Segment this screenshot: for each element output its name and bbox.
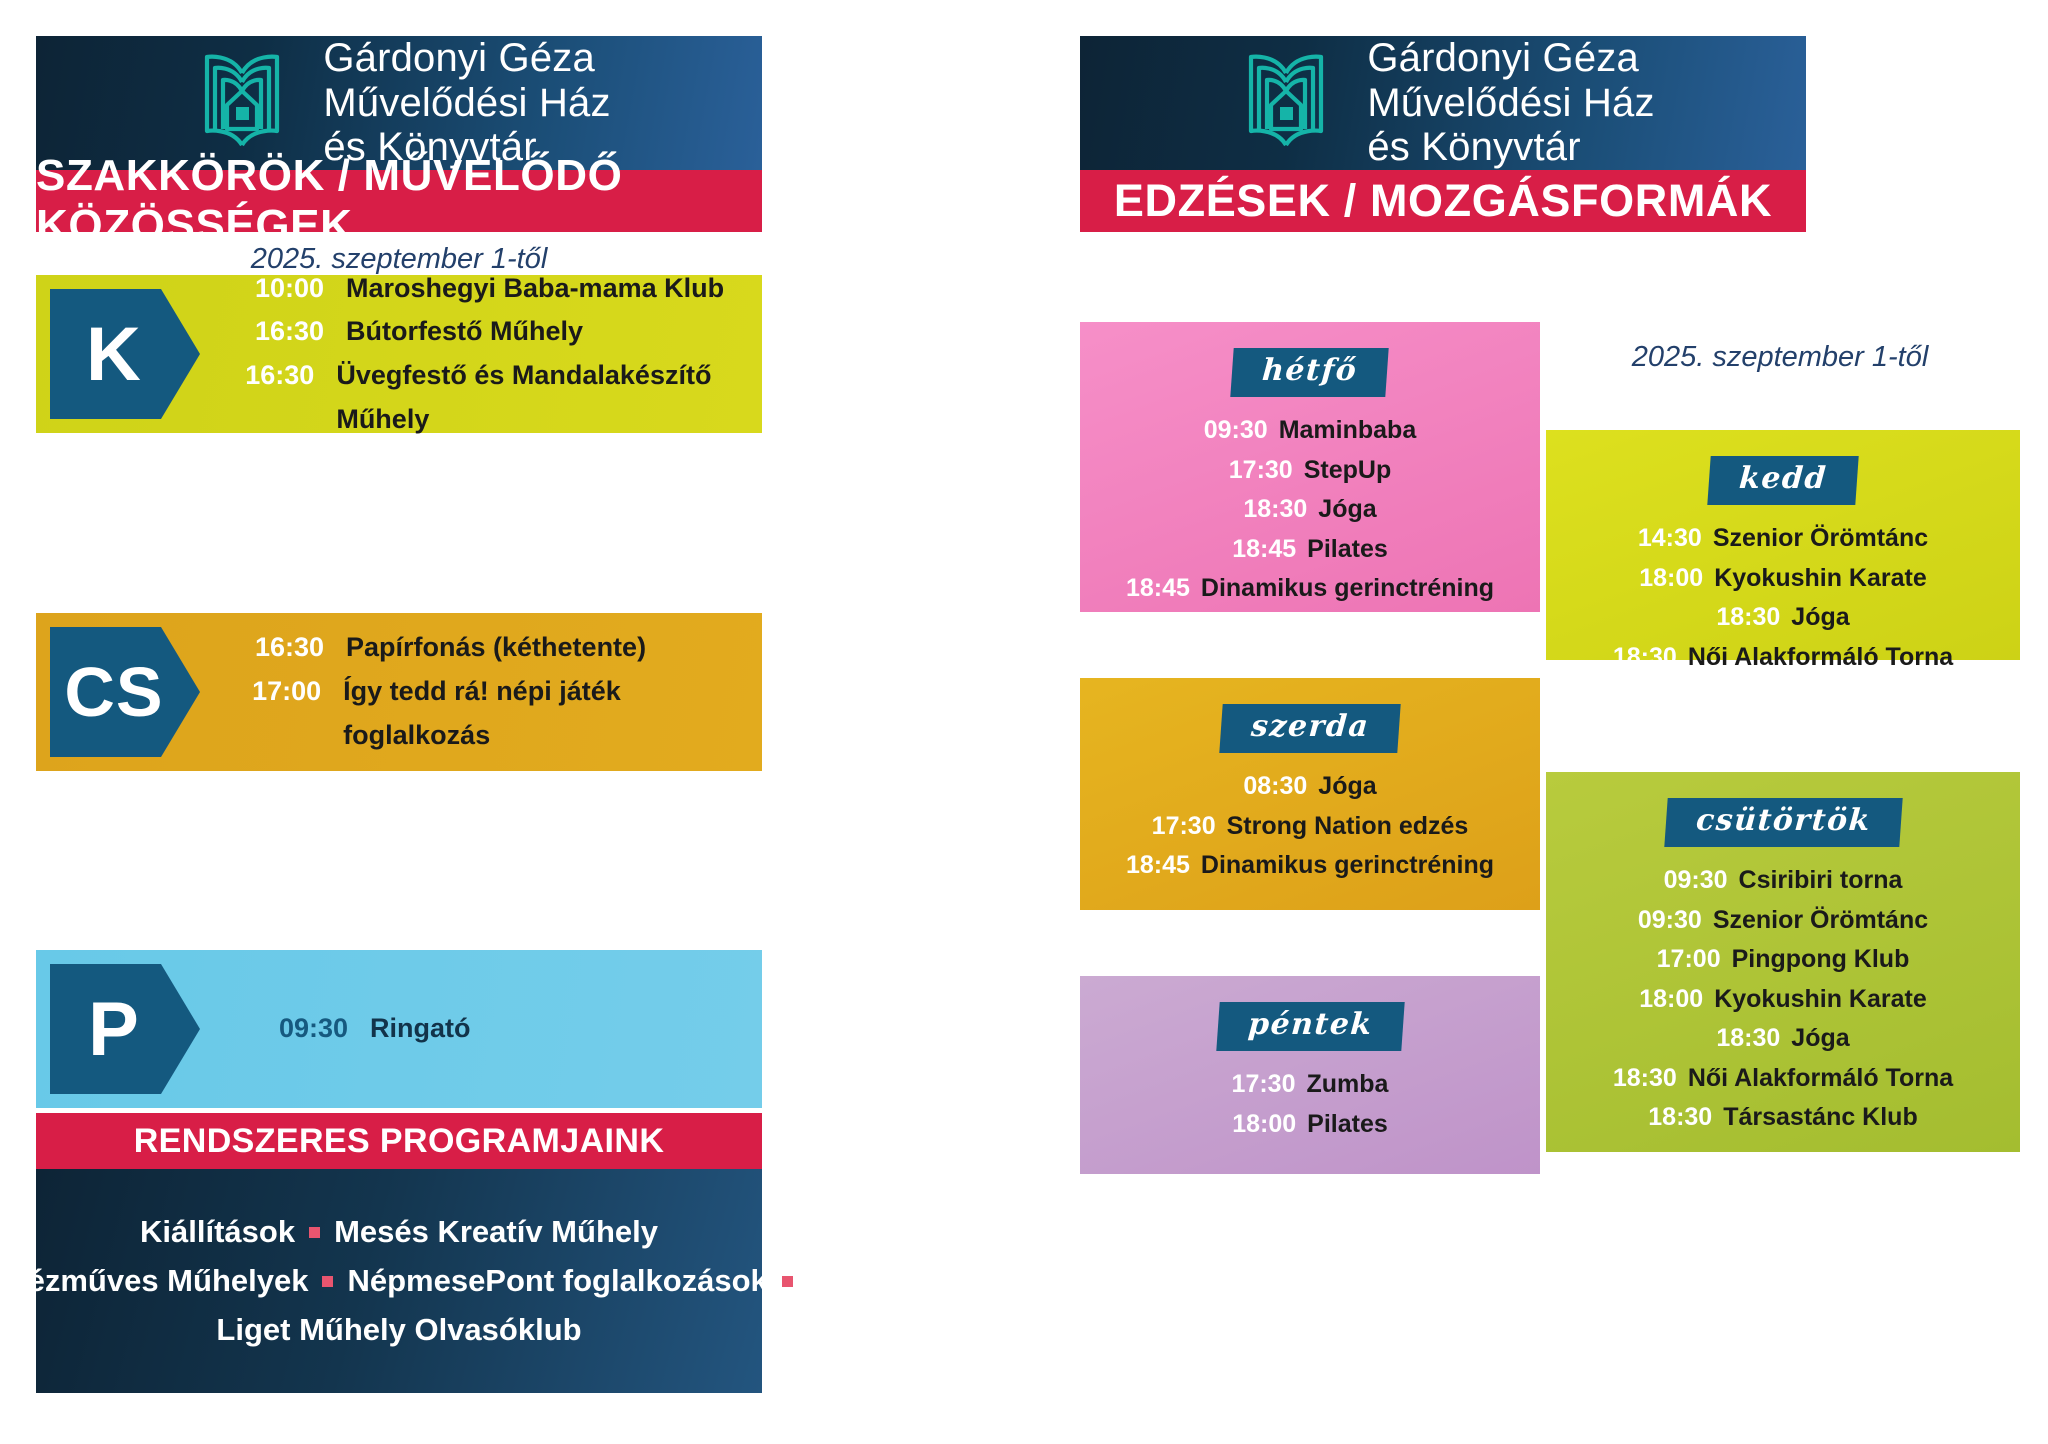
program-name: Mesés Kreatív Műhely [334,1214,658,1250]
day-block-cs: CS 16:30 Papírfonás (kéthetente) 17:00 Í… [36,613,762,771]
item-time: 08:30 [1243,767,1307,807]
list-item: 18:45 Dinamikus gerinctréning [1080,846,1540,886]
right-dateline: 2025. szeptember 1-től [1540,336,2020,378]
weekday-card-kedd: kedd 14:30 Szenior Örömtánc 18:00 Kyokus… [1546,430,2020,660]
day-block-p: P 09:30 Ringató [36,950,762,1108]
item-time: 17:00 [1657,940,1721,980]
item-time: 09:30 [1664,861,1728,901]
weekday-card-csutortok: csütörtök 09:30 Csiribiri torna 09:30 Sz… [1546,772,2020,1152]
item-name: Pilates [1307,530,1388,570]
item-time: 18:30 [1648,1098,1712,1138]
item-name: Pilates [1307,1105,1388,1145]
item-name: StepUp [1304,451,1392,491]
list-item: 18:45 Dinamikus gerinctréning [1080,569,1540,609]
list-item: 10:00 Maroshegyi Baba-mama Klub [232,267,762,311]
item-name: Női Alakformáló Torna [1688,1059,1953,1099]
item-name: Társastánc Klub [1723,1098,1918,1138]
item-time: 18:30 [1716,1019,1780,1059]
list-item: 09:30 Ringató [256,1007,471,1051]
list-item: 18:30 Társastánc Klub [1546,1098,2020,1138]
bullet-separator-icon [322,1276,333,1287]
day-list-k: 10:00 Maroshegyi Baba-mama Klub 16:30 Bú… [232,275,762,433]
list-item: 17:30 Zumba [1080,1065,1540,1105]
day-tag-cs: CS [50,627,200,757]
day-tag-k: K [50,289,200,419]
item-name: Bútorfestő Műhely [346,310,583,354]
weekday-rows-csutortok: 09:30 Csiribiri torna 09:30 Szenior Öröm… [1546,861,2020,1138]
day-list-cs: 16:30 Papírfonás (kéthetente) 17:00 Így … [232,613,762,771]
item-name: Maminbaba [1279,411,1417,451]
item-name: Jóga [1791,1019,1849,1059]
item-time: 18:30 [1613,1059,1677,1099]
item-time: 09:30 [1638,901,1702,941]
list-item: 18:30 Jóga [1080,490,1540,530]
list-item: 18:30 Jóga [1546,598,2020,638]
list-item: 17:30 Strong Nation edzés [1080,807,1540,847]
item-time: 18:00 [1639,980,1703,1020]
item-name: Kyokushin Karate [1714,559,1927,599]
poster-root: Gárdonyi Géza Művelődési Ház és Könyvtár… [0,0,2048,1444]
day-block-k: K 10:00 Maroshegyi Baba-mama Klub 16:30 … [36,275,762,433]
brand-name: Gárdonyi Géza Művelődési Ház és Könyvtár [1367,36,1654,170]
weekday-rows-szerda: 08:30 Jóga 17:30 Strong Nation edzés 18:… [1080,767,1540,886]
item-time: 18:30 [1716,598,1780,638]
day-tag-p: P [50,964,200,1094]
program-name: Kiállítások [140,1214,295,1250]
item-time: 18:45 [1232,530,1296,570]
right-header: Gárdonyi Géza Művelődési Ház és Könyvtár [1080,36,1806,170]
item-time: 18:45 [1126,846,1190,886]
bullet-separator-icon [309,1227,320,1238]
item-time: 09:30 [1204,411,1268,451]
weekday-badge-csutortok: csütörtök [1664,798,1902,847]
item-name: Így tedd rá! népi játék foglalkozás [343,670,762,757]
item-time: 10:00 [232,267,324,311]
weekday-badge-szerda: szerda [1219,704,1401,753]
weekday-badge-hetfo: hétfő [1231,348,1390,397]
item-time: 16:30 [232,310,324,354]
item-name: Jóga [1318,767,1376,807]
bullet-separator-icon [782,1276,793,1287]
left-header: Gárdonyi Géza Művelődési Ház és Könyvtár [36,36,762,170]
open-book-house-icon [1231,47,1341,160]
weekday-badge-pentek: péntek [1216,1002,1404,1051]
list-item: 09:30 Csiribiri torna [1546,861,2020,901]
day-list-p: 09:30 Ringató [256,950,471,1108]
item-time: 17:30 [1229,451,1293,491]
item-time: 17:00 [232,670,321,714]
list-item: 17:00 Így tedd rá! népi játék foglalkozá… [232,670,762,757]
item-name: Maroshegyi Baba-mama Klub [346,267,724,311]
item-name: Szenior Örömtánc [1713,519,1928,559]
item-name: Jóga [1318,490,1376,530]
list-item: 18:30 Jóga [1546,1019,2020,1059]
item-name: Kyokushin Karate [1714,980,1927,1020]
item-time: 09:30 [256,1007,348,1051]
item-time: 16:30 [232,626,324,670]
list-item: 18:00 Kyokushin Karate [1546,980,2020,1020]
list-item: 16:30 Papírfonás (kéthetente) [232,626,762,670]
list-item: 18:30 Női Alakformáló Torna [1546,1059,2020,1099]
item-time: 16:30 [232,354,314,398]
list-item: 08:30 Jóga [1080,767,1540,807]
item-name: Csiribiri torna [1739,861,1903,901]
programs-box: Kiállítások Mesés Kreatív Műhely Kézműve… [36,1169,762,1393]
item-name: Szenior Örömtánc [1713,901,1928,941]
right-title-bar: EDZÉSEK / MOZGÁSFORMÁK [1080,170,1806,232]
item-name: Strong Nation edzés [1227,807,1469,847]
list-item: 18:30 Női Alakformáló Torna [1546,638,2020,678]
weekday-card-pentek: péntek 17:30 Zumba 18:00 Pilates [1080,976,1540,1174]
list-item: 16:30 Üvegfestő és Mandalakészítő Műhely [232,354,762,441]
item-time: 18:00 [1639,559,1703,599]
item-time: 18:00 [1232,1105,1296,1145]
list-item: 16:30 Bútorfestő Műhely [232,310,762,354]
list-item: 18:00 Kyokushin Karate [1546,559,2020,599]
list-item: 09:30 Szenior Örömtánc [1546,901,2020,941]
open-book-house-icon [187,47,297,160]
programs-title-bar: RENDSZERES PROGRAMJAINK [36,1113,762,1169]
item-name: Dinamikus gerinctréning [1201,569,1494,609]
programs-line: Liget Műhely Olvasóklub [216,1312,581,1348]
item-time: 18:30 [1243,490,1307,530]
item-time: 18:30 [1613,638,1677,678]
program-name: Kézműves Műhelyek [5,1263,308,1299]
item-name: Dinamikus gerinctréning [1201,846,1494,886]
program-name: Liget Műhely Olvasóklub [216,1312,581,1348]
item-name: Női Alakformáló Torna [1688,638,1953,678]
weekday-card-szerda: szerda 08:30 Jóga 17:30 Strong Nation ed… [1080,678,1540,910]
program-name: NépmesePont foglalkozások [347,1263,767,1299]
item-time: 17:30 [1232,1065,1296,1105]
weekday-badge-kedd: kedd [1707,456,1858,505]
left-title-bar: SZAKKÖRÖK / MŰVELŐDŐ KÖZÖSSÉGEK [36,170,762,232]
programs-line: Kiállítások Mesés Kreatív Műhely [140,1214,658,1250]
list-item: 18:00 Pilates [1080,1105,1540,1145]
list-item: 17:00 Pingpong Klub [1546,940,2020,980]
item-name: Jóga [1791,598,1849,638]
weekday-rows-pentek: 17:30 Zumba 18:00 Pilates [1080,1065,1540,1144]
item-name: Üvegfestő és Mandalakészítő Műhely [336,354,762,441]
weekday-rows-hetfo: 09:30 Maminbaba 17:30 StepUp 18:30 Jóga … [1080,411,1540,609]
list-item: 09:30 Maminbaba [1080,411,1540,451]
weekday-card-hetfo: hétfő 09:30 Maminbaba 17:30 StepUp 18:30… [1080,322,1540,612]
item-name: Papírfonás (kéthetente) [346,626,646,670]
item-name: Ringató [370,1007,471,1051]
item-time: 17:30 [1152,807,1216,847]
programs-line: Kézműves Műhelyek NépmesePont foglalkozá… [5,1263,793,1299]
weekday-rows-kedd: 14:30 Szenior Örömtánc 18:00 Kyokushin K… [1546,519,2020,677]
list-item: 14:30 Szenior Örömtánc [1546,519,2020,559]
item-time: 18:45 [1126,569,1190,609]
list-item: 17:30 StepUp [1080,451,1540,491]
item-name: Pingpong Klub [1732,940,1910,980]
item-name: Zumba [1307,1065,1389,1105]
item-time: 14:30 [1638,519,1702,559]
list-item: 18:45 Pilates [1080,530,1540,570]
